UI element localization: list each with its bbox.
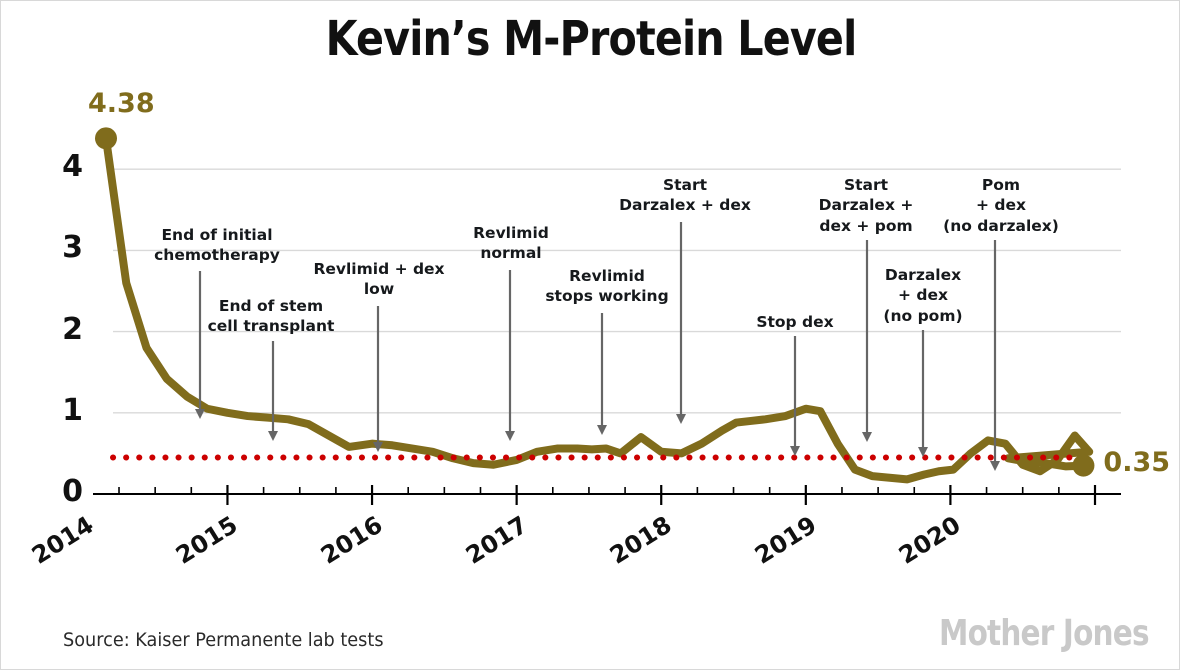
annotation-label: End of stem cell transplant <box>208 296 335 337</box>
y-axis-tick-label: 3 <box>43 230 83 265</box>
annotation-label: End of initial chemotherapy <box>154 225 280 266</box>
y-axis-tick-label: 4 <box>43 149 83 184</box>
annotation-label: Pom + dex (no darzalex) <box>943 175 1059 236</box>
annotation-arrow-head <box>597 425 607 435</box>
annotation-label: Start Darzalex + dex + pom <box>819 175 914 236</box>
start-point-marker <box>95 127 117 149</box>
annotation-arrow-head <box>195 409 205 419</box>
source-note: Source: Kaiser Permanente lab tests <box>63 629 384 651</box>
annotation-label: Stop dex <box>756 312 833 332</box>
y-axis-tick-label: 2 <box>43 312 83 347</box>
x-axis <box>93 485 1121 505</box>
annotation-arrow-head <box>990 461 1000 471</box>
end-point-marker <box>1072 455 1094 477</box>
line-chart-plot <box>1 1 1180 670</box>
annotation-arrow-head <box>268 431 278 441</box>
annotation-arrow-head <box>505 431 515 441</box>
annotation-label: Revlimid stops working <box>545 266 668 307</box>
chart-page: Kevin’s M-Protein Level 01234 2014201520… <box>0 0 1180 670</box>
annotation-label: Revlimid + dex low <box>313 259 444 300</box>
annotation-arrow-head <box>676 414 686 424</box>
start-value-label: 4.38 <box>88 88 155 119</box>
y-axis-tick-label: 1 <box>43 393 83 428</box>
mother-jones-logo: Mother Jones <box>939 613 1149 654</box>
annotation-label: Revlimid normal <box>473 223 549 264</box>
annotation-arrow-head <box>790 446 800 456</box>
annotation-arrow-head <box>862 432 872 442</box>
y-axis-tick-label: 0 <box>43 474 83 509</box>
annotation-label: Darzalex + dex (no pom) <box>883 265 962 326</box>
annotation-label: Start Darzalex + dex <box>619 175 751 216</box>
end-value-label: 0.35 <box>1103 447 1170 478</box>
